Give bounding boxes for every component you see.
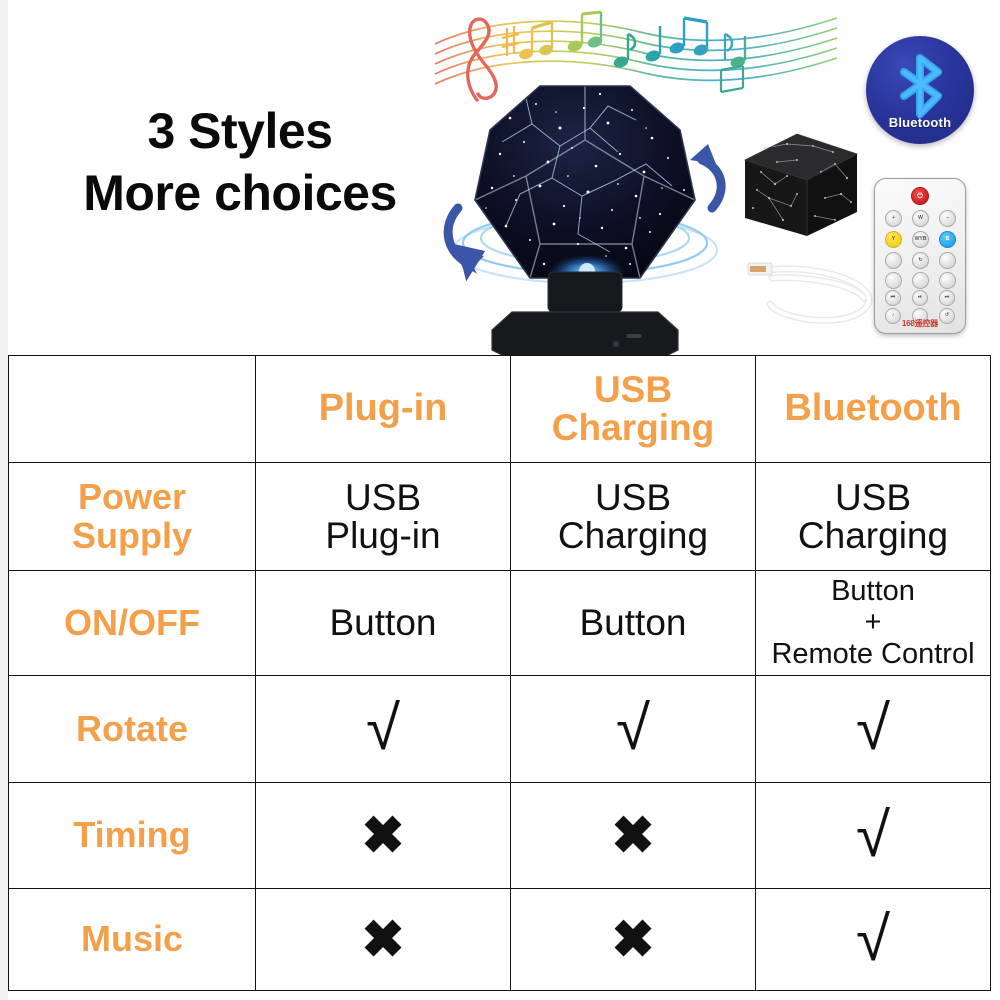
table-row: Timing ✖ ✖ √ xyxy=(9,783,991,889)
row-header-power-supply: Power Supply xyxy=(9,463,256,571)
cell-text: + xyxy=(865,606,882,638)
remote-button-w[interactable]: W xyxy=(912,210,929,227)
row-header-label: Rotate xyxy=(76,708,188,749)
table-row: Rotate √ √ √ xyxy=(9,676,991,783)
cell-text: USB xyxy=(835,477,911,518)
column-header-usb-line-2: Charging xyxy=(552,407,714,448)
cell-text: Remote Control xyxy=(771,638,974,670)
cell-rotate-plug-in: √ xyxy=(256,676,511,783)
check-icon: √ xyxy=(515,698,751,760)
headline-line-2: More choices xyxy=(40,162,440,224)
headline-line-1: 3 Styles xyxy=(40,100,440,162)
cell-music-bluetooth: √ xyxy=(756,889,991,991)
constellation-gift-box xyxy=(735,128,865,243)
column-header-bluetooth-label: Bluetooth xyxy=(784,387,961,429)
row-header-power-line-1: Power xyxy=(78,476,186,517)
comparison-table: Plug-in USB Charging Bluetooth Power Sup xyxy=(8,355,991,991)
cell-rotate-usb-charging: √ xyxy=(511,676,756,783)
bluetooth-badge: Bluetooth xyxy=(866,36,974,144)
cell-text: USB xyxy=(345,477,421,518)
remote-button-vol-up[interactable] xyxy=(912,272,929,289)
remote-button-y[interactable]: Y xyxy=(885,231,902,248)
row-header-label: ON/OFF xyxy=(64,602,200,643)
hero-section: 3 Styles More choices xyxy=(0,0,1000,355)
remote-button-mode-1[interactable] xyxy=(885,252,902,269)
cell-timing-bluetooth: √ xyxy=(756,783,991,889)
remote-control: ⏻ + W − Y WYB B ↻ ⏮ ⏯ ⏭ ♪ ↺ 168遥控器 xyxy=(874,178,966,334)
cross-icon: ✖ xyxy=(260,914,506,966)
row-header-on-off: ON/OFF xyxy=(9,571,256,676)
check-icon: √ xyxy=(760,698,986,760)
column-header-plug-in: Plug-in xyxy=(256,356,511,463)
remote-button-b[interactable]: B xyxy=(939,231,956,248)
cross-icon: ✖ xyxy=(260,810,506,862)
cell-timing-usb-charging: ✖ xyxy=(511,783,756,889)
remote-power-button[interactable]: ⏻ xyxy=(911,187,929,205)
row-header-label: Timing xyxy=(73,814,190,855)
cell-power-plug-in: USB Plug-in xyxy=(256,463,511,571)
cell-text: Button xyxy=(831,575,915,607)
remote-button-timer-10[interactable] xyxy=(885,272,902,289)
rotation-arrow-left xyxy=(448,208,484,274)
remote-button-rotate[interactable]: ↻ xyxy=(912,252,929,269)
cross-icon: ✖ xyxy=(515,914,751,966)
remote-button-next[interactable]: ⏭ xyxy=(939,290,955,306)
cell-onoff-plug-in: Button xyxy=(256,571,511,676)
cell-text: Charging xyxy=(558,515,708,556)
cell-rotate-bluetooth: √ xyxy=(756,676,991,783)
table-row: Power Supply USB Plug-in USB Charging xyxy=(9,463,991,571)
star-projector-lamp xyxy=(440,68,730,360)
product-comparison-page: 3 Styles More choices xyxy=(0,0,1000,1000)
remote-button-prev[interactable]: ⏮ xyxy=(885,290,901,306)
cell-text: USB xyxy=(595,477,671,518)
table-row: ON/OFF Button Button Button + Remote Con… xyxy=(9,571,991,676)
remote-model-label: 168遥控器 xyxy=(874,318,966,329)
check-icon: √ xyxy=(760,909,986,971)
cell-text: Plug-in xyxy=(325,515,440,556)
badge-label: Bluetooth xyxy=(866,115,974,130)
remote-button-play[interactable]: ⏯ xyxy=(912,290,928,306)
column-header-usb-line-1: USB xyxy=(594,369,672,410)
row-header-rotate: Rotate xyxy=(9,676,256,783)
cell-onoff-bluetooth: Button + Remote Control xyxy=(756,571,991,676)
cell-text: Charging xyxy=(798,515,948,556)
remote-button-plus[interactable]: + xyxy=(885,210,902,227)
remote-button-minus[interactable]: − xyxy=(939,210,956,227)
row-header-label: Music xyxy=(81,918,183,959)
cell-text: Button xyxy=(330,602,437,643)
row-header-music: Music xyxy=(9,889,256,991)
usb-cable xyxy=(742,248,882,333)
cell-timing-plug-in: ✖ xyxy=(256,783,511,889)
cross-icon: ✖ xyxy=(515,810,751,862)
check-icon: √ xyxy=(760,805,986,867)
check-icon: √ xyxy=(260,698,506,760)
page-title: 3 Styles More choices xyxy=(40,100,440,224)
cell-music-plug-in: ✖ xyxy=(256,889,511,991)
column-header-usb-charging: USB Charging xyxy=(511,356,756,463)
remote-button-mode-2[interactable] xyxy=(939,252,956,269)
cell-onoff-usb-charging: Button xyxy=(511,571,756,676)
cell-power-usb-charging: USB Charging xyxy=(511,463,756,571)
table-corner-cell xyxy=(9,356,256,463)
table-header-row: Plug-in USB Charging Bluetooth xyxy=(9,356,991,463)
row-header-power-line-2: Supply xyxy=(72,515,192,556)
row-header-timing: Timing xyxy=(9,783,256,889)
column-header-bluetooth: Bluetooth xyxy=(756,356,991,463)
remote-button-wyb[interactable]: WYB xyxy=(912,231,929,248)
column-header-plug-in-label: Plug-in xyxy=(319,387,448,429)
cell-music-usb-charging: ✖ xyxy=(511,889,756,991)
remote-button-timer-60[interactable] xyxy=(939,272,956,289)
table-row: Music ✖ ✖ √ xyxy=(9,889,991,991)
cell-power-bluetooth: USB Charging xyxy=(756,463,991,571)
cell-text: Button xyxy=(580,602,687,643)
